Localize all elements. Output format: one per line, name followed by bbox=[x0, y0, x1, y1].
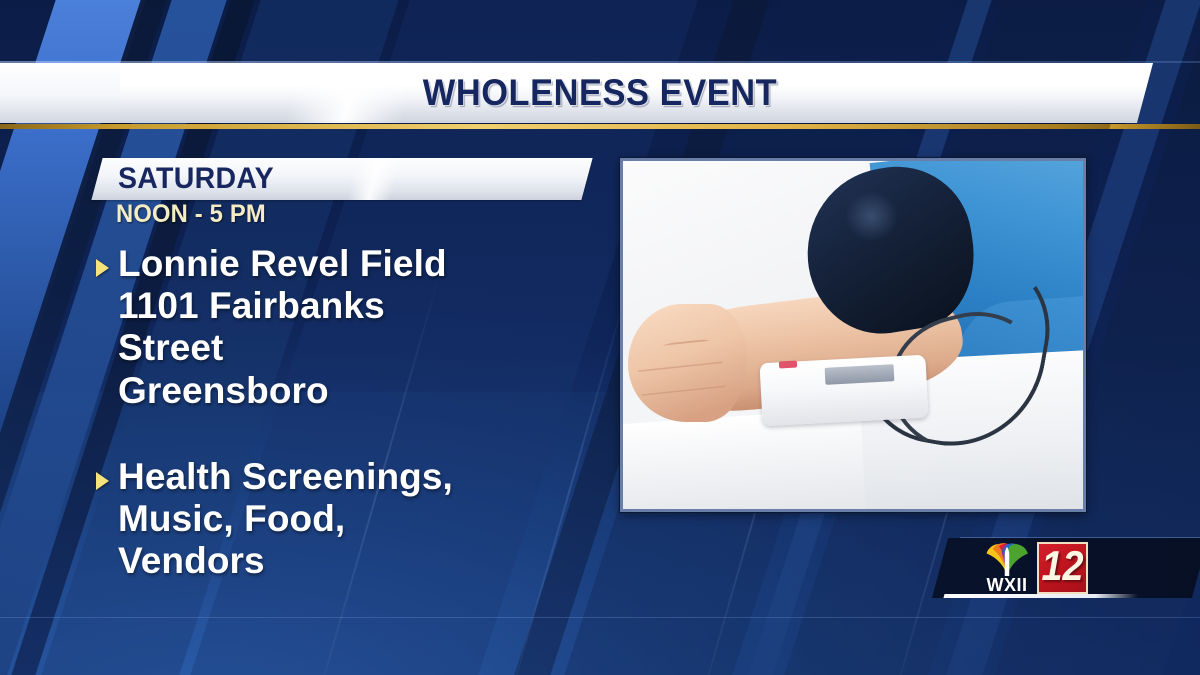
station-logo: WXII 12 bbox=[978, 540, 1088, 594]
title-gold-rule bbox=[0, 124, 1181, 129]
photo-vignette bbox=[623, 161, 1083, 509]
nbc-peacock-icon bbox=[984, 542, 1030, 576]
background-hairline bbox=[0, 617, 1200, 618]
logo-underline bbox=[943, 594, 1138, 598]
station-logo-left: WXII bbox=[978, 542, 1035, 594]
channel-number-badge: 12 bbox=[1037, 542, 1088, 594]
day-label: SATURDAY bbox=[118, 158, 274, 200]
page-title: WHOLENESS EVENT bbox=[42, 63, 1158, 123]
detail-list: Lonnie Revel Field 1101 Fairbanks Street… bbox=[96, 243, 616, 582]
list-item: Health Screenings, Music, Food, Vendors bbox=[96, 456, 616, 583]
title-gold-rule-right bbox=[1109, 124, 1200, 129]
blood-pressure-photo bbox=[623, 161, 1083, 509]
station-callsign: WXII bbox=[978, 576, 1036, 594]
channel-number: 12 bbox=[1041, 542, 1083, 590]
list-item-label: Lonnie Revel Field 1101 Fairbanks Street… bbox=[118, 243, 447, 412]
tv-lower-third-graphic: WHOLENESS EVENT SATURDAY NOON - 5 PM Lon… bbox=[0, 0, 1200, 675]
logo-band-top-edge bbox=[960, 537, 1200, 538]
list-item: Lonnie Revel Field 1101 Fairbanks Street… bbox=[96, 243, 616, 412]
time-label: NOON - 5 PM bbox=[116, 200, 266, 229]
photo-frame bbox=[620, 158, 1086, 512]
triangle-bullet-icon bbox=[96, 259, 109, 277]
triangle-bullet-icon bbox=[96, 472, 109, 490]
list-item-label: Health Screenings, Music, Food, Vendors bbox=[118, 456, 453, 583]
